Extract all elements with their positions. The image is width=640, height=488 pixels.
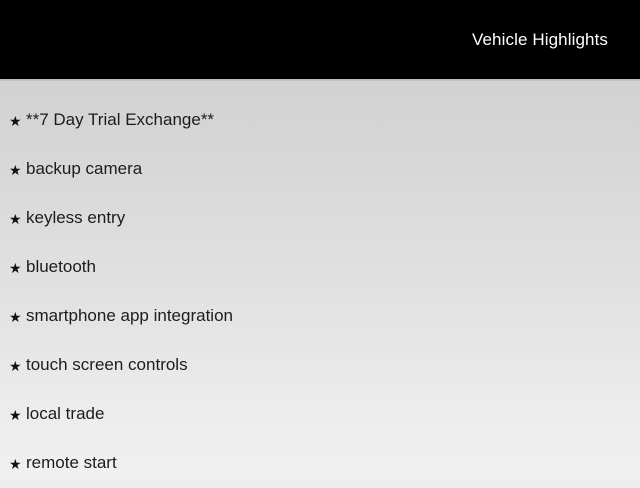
list-item: ★ smartphone app integration	[0, 292, 640, 341]
list-item: ★ remote start	[0, 439, 640, 488]
list-item-label: backup camera	[26, 159, 142, 179]
header-bar: Vehicle Highlights	[0, 0, 640, 79]
vehicle-highlights-page: Vehicle Highlights ★ **7 Day Trial Excha…	[0, 0, 640, 480]
list-item-label: remote start	[26, 453, 117, 473]
list-item: ★ **7 Day Trial Exchange**	[0, 96, 640, 145]
list-item: ★ keyless entry	[0, 194, 640, 243]
list-item-label: keyless entry	[26, 208, 125, 228]
star-icon: ★	[9, 359, 26, 373]
star-icon: ★	[9, 310, 26, 324]
list-item: ★ touch screen controls	[0, 341, 640, 390]
star-icon: ★	[9, 163, 26, 177]
list-item-label: local trade	[26, 404, 104, 424]
star-icon: ★	[9, 261, 26, 275]
list-item-label: smartphone app integration	[26, 306, 233, 326]
star-icon: ★	[9, 408, 26, 422]
vehicle-highlights-list: ★ **7 Day Trial Exchange** ★ backup came…	[0, 81, 640, 488]
list-item: ★ local trade	[0, 390, 640, 439]
star-icon: ★	[9, 114, 26, 128]
star-icon: ★	[9, 212, 26, 226]
list-item-label: **7 Day Trial Exchange**	[26, 110, 214, 130]
star-icon: ★	[9, 457, 26, 471]
list-item: ★ backup camera	[0, 145, 640, 194]
list-item-label: touch screen controls	[26, 355, 188, 375]
page-title: Vehicle Highlights	[472, 31, 608, 48]
list-item: ★ bluetooth	[0, 243, 640, 292]
list-item-label: bluetooth	[26, 257, 96, 277]
